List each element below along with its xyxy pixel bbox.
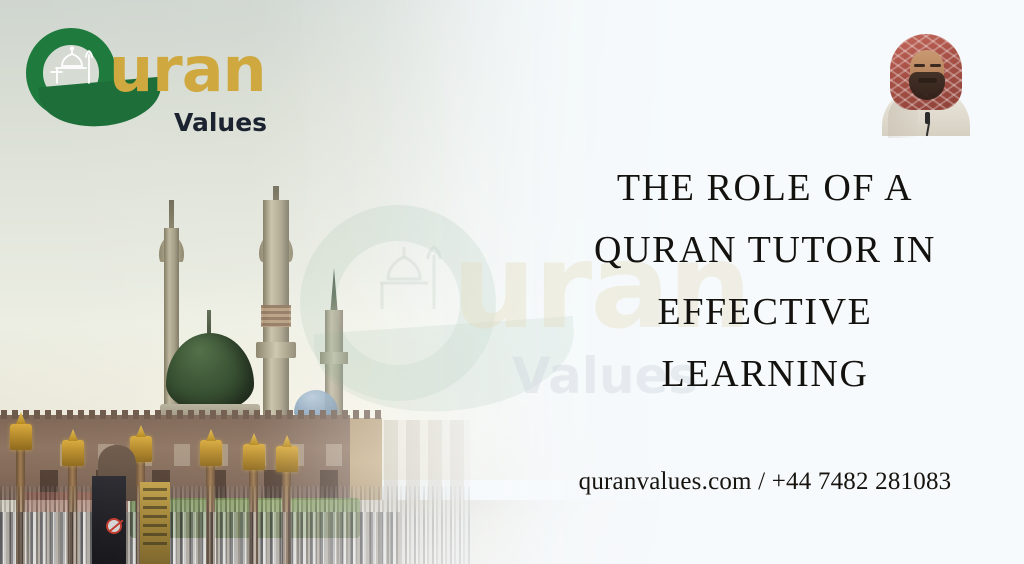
quran-values-logo[interactable]: uran Values <box>22 26 287 138</box>
promo-banner: uran Values uran Values <box>0 0 1024 564</box>
logo-word-secondary: Values <box>174 110 267 135</box>
no-entry-icon <box>106 518 122 534</box>
logo-word-primary: uran <box>109 39 266 101</box>
crowd-foreground <box>0 512 400 564</box>
headline: THE ROLE OF A QURAN TUTOR IN EFFECTIVE L… <box>520 158 1010 406</box>
lamp-head <box>62 440 84 466</box>
lamp-head <box>243 444 265 470</box>
headline-line-1: THE ROLE OF A <box>520 158 1010 220</box>
minaret-center-balcony <box>256 342 296 358</box>
lamp-head <box>276 446 298 472</box>
mosque-dome-icon <box>48 46 96 86</box>
wall-crenellation <box>0 410 382 419</box>
headline-line-2: QURAN TUTOR IN <box>520 220 1010 282</box>
minaret-right-balcony <box>320 352 348 364</box>
contact-line[interactable]: quranvalues.com / +44 7482 281083 <box>520 468 1010 496</box>
minaret-center-band <box>261 305 291 327</box>
portrait-eyebrow-left <box>914 64 925 67</box>
tutor-portrait <box>878 26 974 134</box>
portrait-mustache <box>918 78 937 83</box>
portrait-eyebrow-right <box>930 64 941 67</box>
lamp-head <box>10 424 32 450</box>
headline-line-4: LEARNING <box>520 344 1010 406</box>
headline-line-3: EFFECTIVE <box>520 282 1010 344</box>
lamp-head <box>200 440 222 466</box>
signage-text-rows <box>143 488 167 548</box>
